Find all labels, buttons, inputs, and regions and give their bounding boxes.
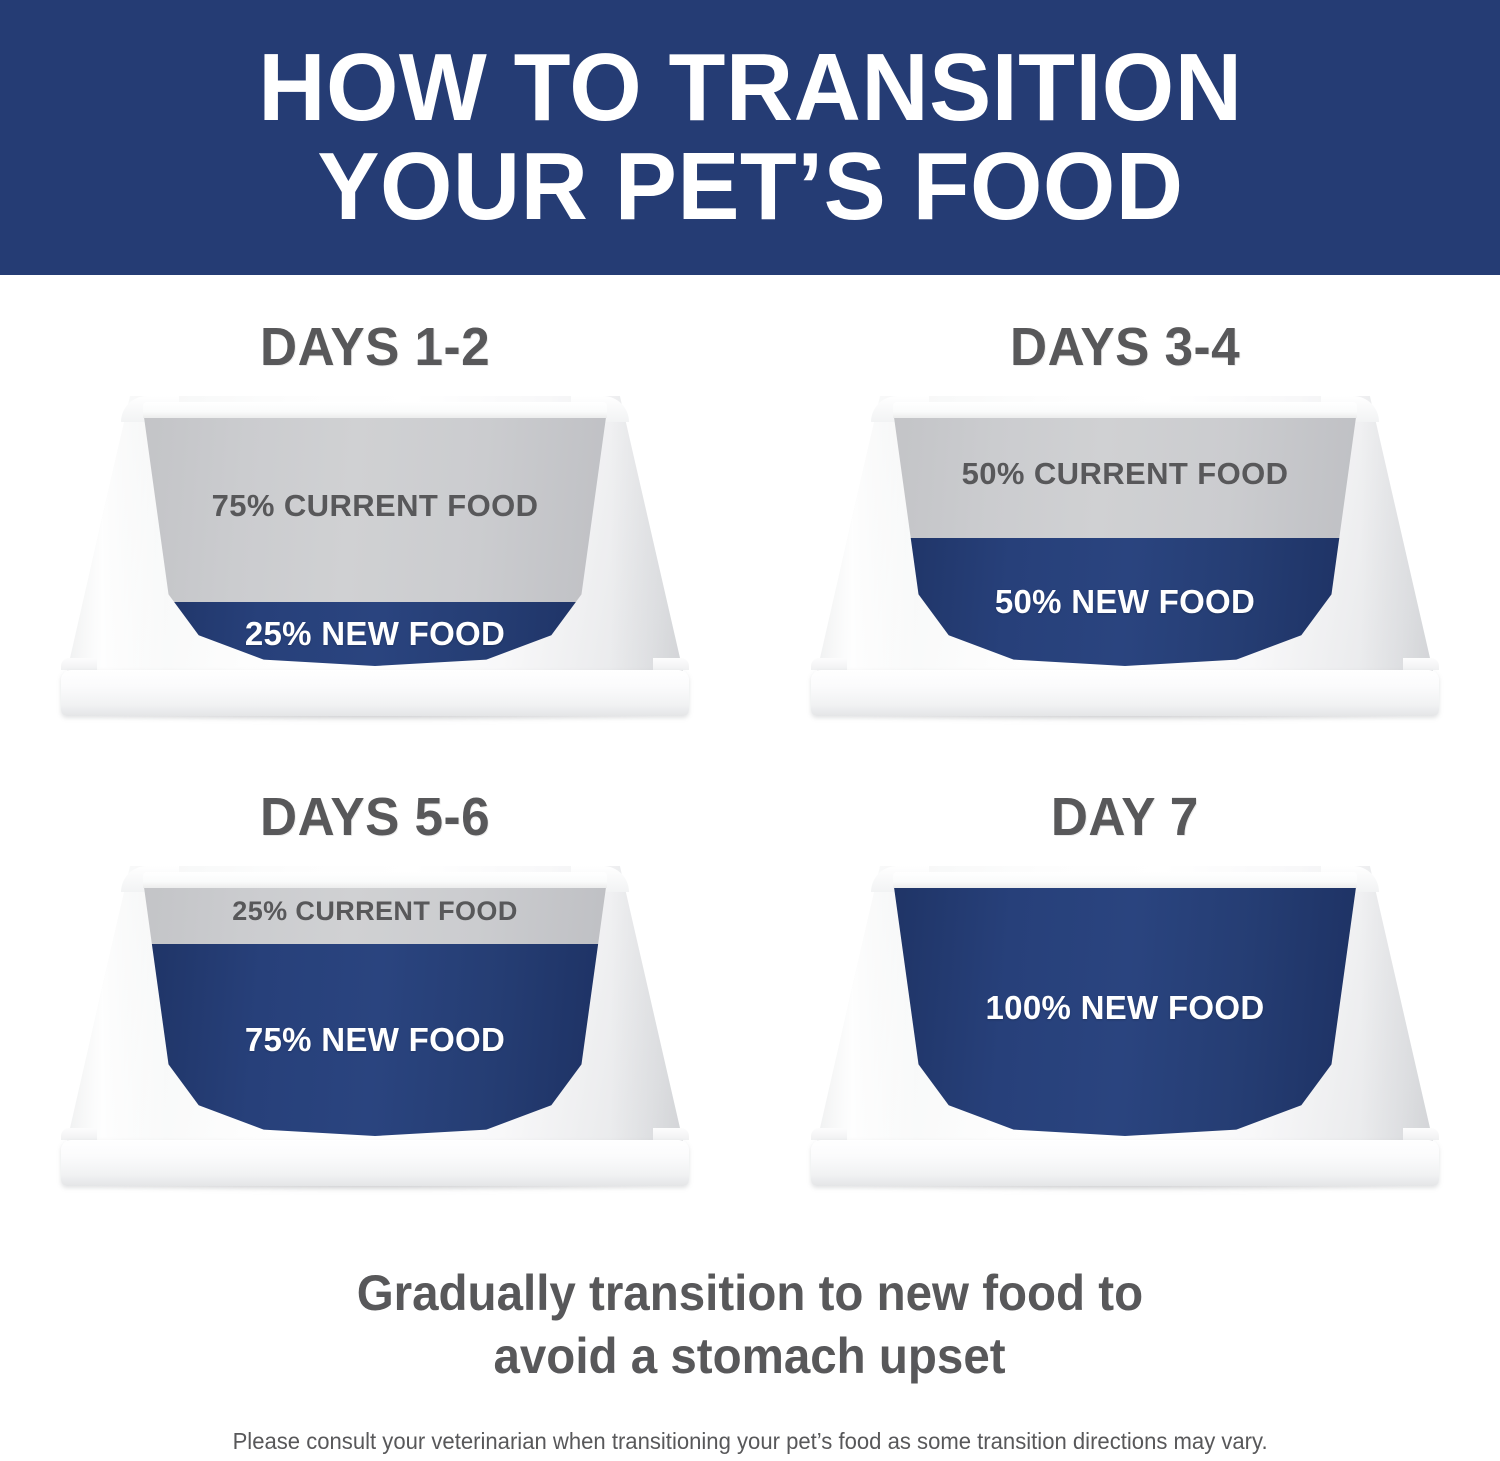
header-banner: HOW TO TRANSITION YOUR PET’S FOOD bbox=[0, 0, 1500, 275]
pet-bowl-stage-3: 25% CURRENT FOOD 75% NEW FOOD bbox=[65, 866, 685, 1186]
new-food-fill-stage-4: 100% NEW FOOD bbox=[893, 880, 1357, 1136]
day-label-stage-4: DAY 7 bbox=[1051, 790, 1199, 844]
bowl-cavity-rim bbox=[143, 402, 607, 418]
day-label-stage-2: DAYS 3-4 bbox=[1010, 320, 1240, 374]
disclaimer-text: Please consult your veterinarian when tr… bbox=[232, 1428, 1267, 1455]
bowl-cavity-stage-3: 25% CURRENT FOOD 75% NEW FOOD bbox=[143, 880, 607, 1136]
bowl-card-stage-3: DAYS 5-6 25% CURRENT FOOD 75% NEW FOOD bbox=[0, 790, 750, 1260]
bowl-base-notch-left bbox=[61, 1128, 97, 1140]
bowl-base-notch-left bbox=[811, 658, 847, 670]
bowl-cavity-rim bbox=[893, 872, 1357, 888]
pet-bowl-stage-4: 100% NEW FOOD bbox=[815, 866, 1435, 1186]
bowl-cavity-rim bbox=[893, 402, 1357, 418]
bowl-base bbox=[61, 670, 689, 716]
header-title-line-1: HOW TO TRANSITION bbox=[258, 39, 1242, 138]
bowl-card-stage-1: DAYS 1-2 75% CURRENT FOOD 25% NEW FOOD bbox=[0, 320, 750, 790]
bowl-cavity-stage-4: 100% NEW FOOD bbox=[893, 880, 1357, 1136]
tagline-line-1: Gradually transition to new food to bbox=[357, 1262, 1143, 1325]
day-label-stage-1: DAYS 1-2 bbox=[260, 320, 490, 374]
current-food-label-stage-3: 25% CURRENT FOOD bbox=[214, 896, 535, 927]
current-food-fill-stage-2: 50% CURRENT FOOD bbox=[893, 410, 1357, 538]
tagline-line-2: avoid a stomach upset bbox=[494, 1325, 1006, 1388]
current-food-label-stage-2: 50% CURRENT FOOD bbox=[944, 456, 1307, 492]
bowl-base bbox=[811, 670, 1439, 716]
current-food-label-stage-1: 75% CURRENT FOOD bbox=[194, 488, 557, 524]
day-label-stage-3: DAYS 5-6 bbox=[260, 790, 490, 844]
bowl-cavity-stage-1: 75% CURRENT FOOD 25% NEW FOOD bbox=[143, 410, 607, 666]
bowl-card-stage-2: DAYS 3-4 50% CURRENT FOOD 50% NEW FOOD bbox=[750, 320, 1500, 790]
new-food-label-stage-2: 50% NEW FOOD bbox=[977, 583, 1273, 621]
bowl-card-stage-4: DAY 7 100% NEW FOOD bbox=[750, 790, 1500, 1260]
new-food-label-stage-1: 25% NEW FOOD bbox=[227, 615, 523, 653]
footer: Gradually transition to new food to avoi… bbox=[0, 1262, 1500, 1455]
bowl-base bbox=[811, 1140, 1439, 1186]
current-food-fill-stage-3: 25% CURRENT FOOD bbox=[143, 880, 607, 944]
bowl-base-notch-right bbox=[653, 658, 689, 670]
bowl-base-notch-right bbox=[653, 1128, 689, 1140]
header-title-line-2: YOUR PET’S FOOD bbox=[317, 138, 1183, 237]
bowl-base bbox=[61, 1140, 689, 1186]
new-food-label-stage-3: 75% NEW FOOD bbox=[227, 1021, 523, 1059]
bowl-base-notch-left bbox=[61, 658, 97, 670]
infographic-page: HOW TO TRANSITION YOUR PET’S FOOD DAYS 1… bbox=[0, 0, 1500, 1461]
bowl-base-notch-left bbox=[811, 1128, 847, 1140]
bowl-cavity-stage-2: 50% CURRENT FOOD 50% NEW FOOD bbox=[893, 410, 1357, 666]
new-food-fill-stage-3: 75% NEW FOOD bbox=[143, 944, 607, 1136]
pet-bowl-stage-2: 50% CURRENT FOOD 50% NEW FOOD bbox=[815, 396, 1435, 716]
bowl-grid: DAYS 1-2 75% CURRENT FOOD 25% NEW FOOD bbox=[0, 275, 1500, 1260]
new-food-label-stage-4: 100% NEW FOOD bbox=[968, 989, 1283, 1027]
current-food-fill-stage-1: 75% CURRENT FOOD bbox=[143, 410, 607, 602]
pet-bowl-stage-1: 75% CURRENT FOOD 25% NEW FOOD bbox=[65, 396, 685, 716]
bowl-cavity-rim bbox=[143, 872, 607, 888]
bowl-base-notch-right bbox=[1403, 1128, 1439, 1140]
bowl-base-notch-right bbox=[1403, 658, 1439, 670]
